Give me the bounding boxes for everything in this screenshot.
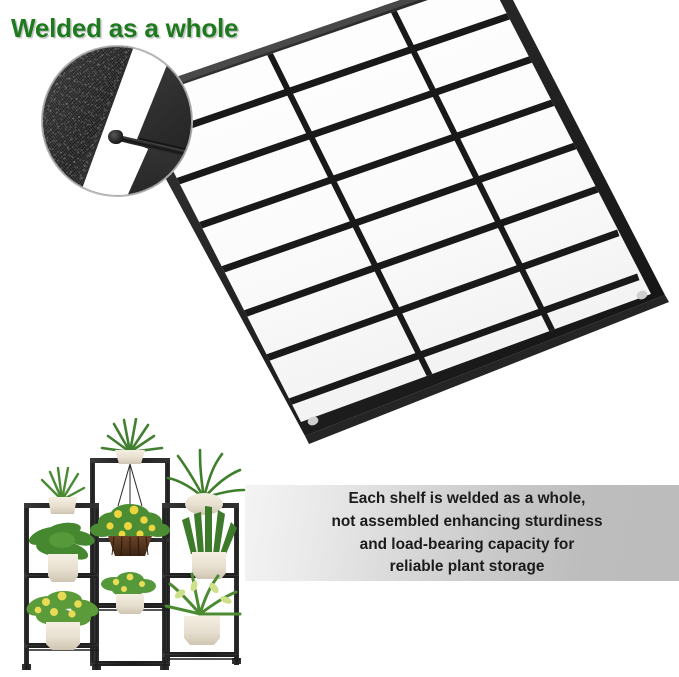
caption-block: Each shelf is welded as a whole, not ass… [255,487,679,579]
caption-line: reliable plant storage [390,556,545,578]
textured-frame-bar [42,46,147,196]
product-feature-image: Welded as a whole Each shelf is welded a… [0,0,679,677]
shelf-panel-svg [205,0,675,462]
weld-bead [108,130,123,144]
caption-line: and load-bearing capacity for [360,534,575,556]
caption-line: Each shelf is welded as a whole, [349,488,586,510]
plant-stand-photo [2,418,270,677]
plant-spider-top-center [102,419,162,464]
plant-snake-mid-right [182,506,237,579]
caption-line: not assembled enhancing sturdiness [331,511,602,533]
plant-stand-svg [2,418,270,677]
page-title: Welded as a whole [11,13,238,44]
plant-variegated-lower-right [166,574,240,645]
weld-joint-magnifier [42,46,192,196]
plant-hosta-mid-left [27,521,97,582]
magnifier-content [42,46,192,196]
plant-hanging-basket [90,464,170,556]
shelf-panel-illustration [205,0,675,462]
plant-flowering-lower-left [24,591,101,650]
